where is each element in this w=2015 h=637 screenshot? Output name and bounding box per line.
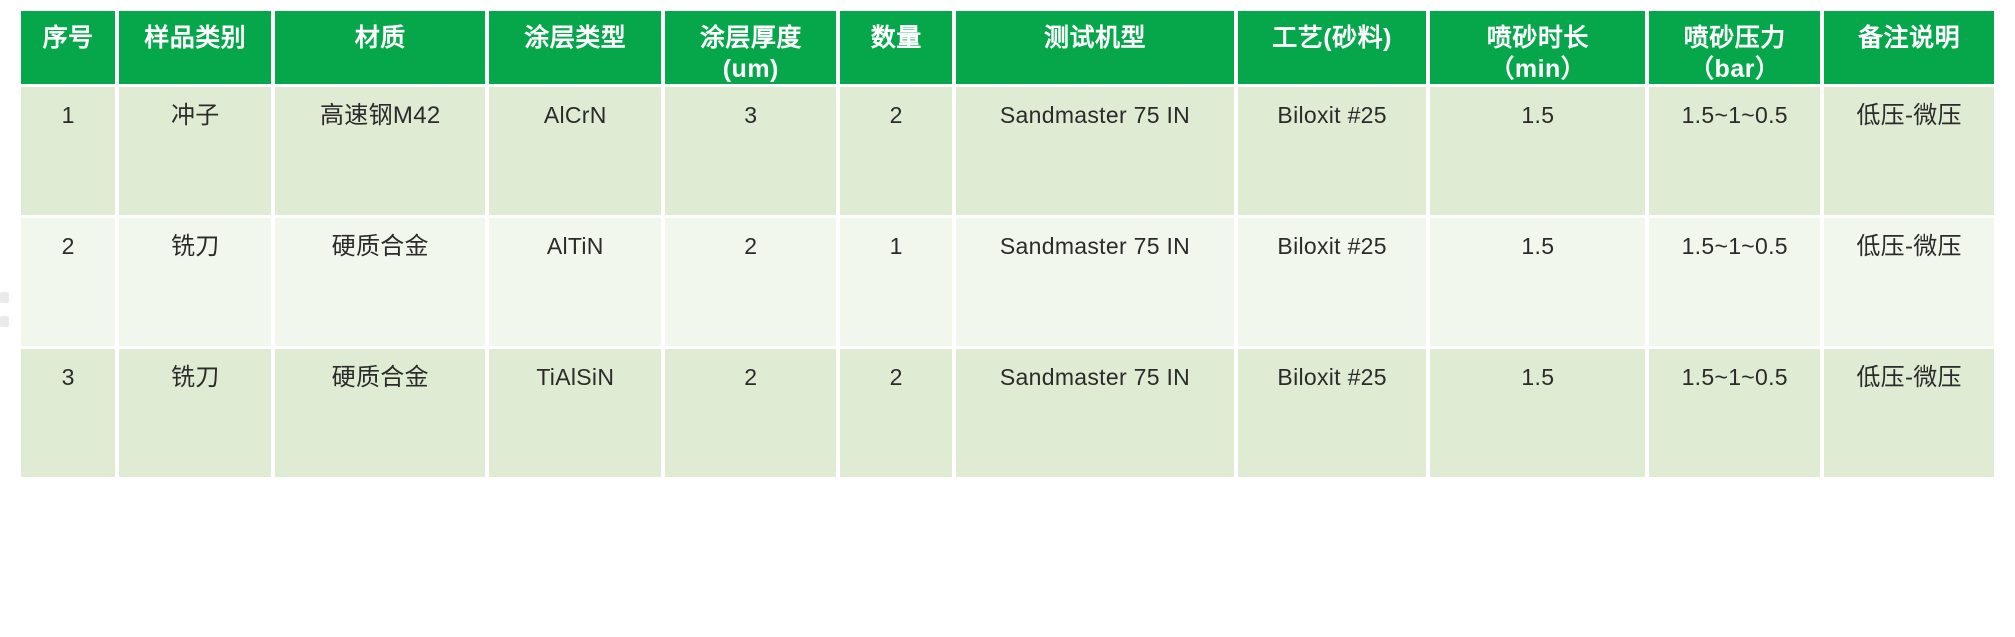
column-header-material[interactable]: 材质 [275,11,485,84]
cell-test-machine: Sandmaster 75 IN [956,349,1234,477]
table-body: 1 冲子 高速钢M42 AlCrN 3 2 Sandmaster 75 IN B… [21,87,1994,477]
cell-coating-thickness: 2 [665,349,836,477]
cell-blast-pressure: 1.5~1~0.5 [1649,87,1820,215]
header-row: 序号 样品类别 材质 涂层类型 涂层厚度 (um) 数量 测试机型 工艺(砂料)… [21,11,1994,84]
cell-sample-type: 冲子 [119,87,271,215]
table-container: 序号 样品类别 材质 涂层类型 涂层厚度 (um) 数量 测试机型 工艺(砂料)… [17,8,1998,480]
cell-quantity: 2 [840,87,952,215]
cell-material: 硬质合金 [275,349,485,477]
column-header-blast-time[interactable]: 喷砂时长 （min） [1430,11,1645,84]
cell-blast-time: 1.5 [1430,349,1645,477]
cell-blast-time: 1.5 [1430,218,1645,346]
cell-blast-pressure: 1.5~1~0.5 [1649,218,1820,346]
cell-sample-type: 铣刀 [119,218,271,346]
table-row[interactable]: 1 冲子 高速钢M42 AlCrN 3 2 Sandmaster 75 IN B… [21,87,1994,215]
cell-remark: 低压-微压 [1824,87,1994,215]
left-edge-artifact [0,292,9,303]
cell-blast-time: 1.5 [1430,87,1645,215]
column-header-quantity[interactable]: 数量 [840,11,952,84]
cell-sample-type: 铣刀 [119,349,271,477]
cell-coating-type: AlTiN [489,218,661,346]
cell-test-machine: Sandmaster 75 IN [956,87,1234,215]
cell-material: 硬质合金 [275,218,485,346]
left-edge-artifact [0,316,9,327]
cell-coating-type: AlCrN [489,87,661,215]
cell-index: 2 [21,218,115,346]
cell-process-media: Biloxit #25 [1238,87,1427,215]
cell-process-media: Biloxit #25 [1238,218,1427,346]
column-header-coating-type[interactable]: 涂层类型 [489,11,661,84]
cell-index: 3 [21,349,115,477]
column-header-test-machine[interactable]: 测试机型 [956,11,1234,84]
column-header-coating-thickness[interactable]: 涂层厚度 (um) [665,11,836,84]
table-header: 序号 样品类别 材质 涂层类型 涂层厚度 (um) 数量 测试机型 工艺(砂料)… [21,11,1994,84]
cell-test-machine: Sandmaster 75 IN [956,218,1234,346]
cell-remark: 低压-微压 [1824,218,1994,346]
table-row[interactable]: 2 铣刀 硬质合金 AlTiN 2 1 Sandmaster 75 IN Bil… [21,218,1994,346]
cell-coating-type: TiAlSiN [489,349,661,477]
cell-blast-pressure: 1.5~1~0.5 [1649,349,1820,477]
column-header-process-media[interactable]: 工艺(砂料) [1238,11,1427,84]
cell-coating-thickness: 2 [665,218,836,346]
table-row[interactable]: 3 铣刀 硬质合金 TiAlSiN 2 2 Sandmaster 75 IN B… [21,349,1994,477]
cell-quantity: 1 [840,218,952,346]
column-header-sample-type[interactable]: 样品类别 [119,11,271,84]
sample-blasting-test-table: 序号 样品类别 材质 涂层类型 涂层厚度 (um) 数量 测试机型 工艺(砂料)… [17,8,1998,480]
cell-process-media: Biloxit #25 [1238,349,1427,477]
column-header-index[interactable]: 序号 [21,11,115,84]
cell-coating-thickness: 3 [665,87,836,215]
cell-index: 1 [21,87,115,215]
column-header-remark[interactable]: 备注说明 [1824,11,1994,84]
column-header-blast-pressure[interactable]: 喷砂压力 （bar） [1649,11,1820,84]
cell-quantity: 2 [840,349,952,477]
cell-material: 高速钢M42 [275,87,485,215]
cell-remark: 低压-微压 [1824,349,1994,477]
